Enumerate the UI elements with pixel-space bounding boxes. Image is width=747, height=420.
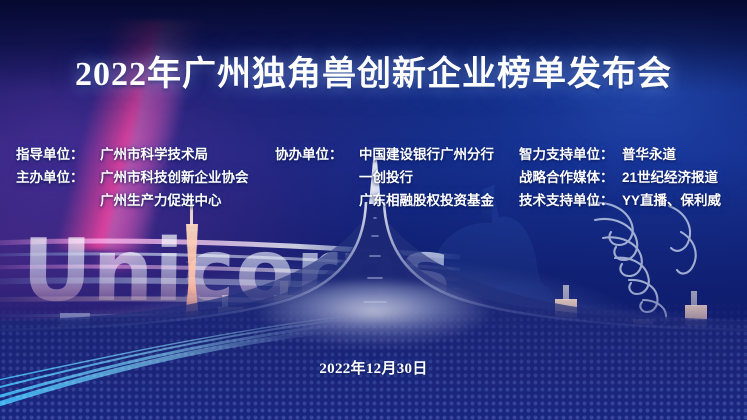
credit-label: 战略合作媒体： bbox=[519, 166, 622, 186]
credits-block: 指导单位： 广州市科学技术局 主办单位： 广州市科技创新企业协会 广州生产力促进… bbox=[0, 143, 747, 213]
credit-value: 广州市科学技术局 bbox=[100, 143, 208, 163]
credits-column-middle: 协办单位： 中国建设银行广州分行 一创投行 广东相融股权投资基金 bbox=[275, 143, 494, 212]
credit-label: 协办单位： bbox=[275, 143, 359, 163]
credit-value: 广州生产力促进中心 bbox=[100, 189, 222, 209]
credit-value: YY直播、保利威 bbox=[622, 189, 721, 209]
credit-row: 广州生产力促进中心 bbox=[16, 189, 249, 212]
event-poster: Unicorns bbox=[0, 0, 747, 420]
credit-value: 广州市科技创新企业协会 bbox=[100, 166, 249, 186]
credit-row: 指导单位： 广州市科学技术局 bbox=[16, 143, 249, 166]
credit-value: 中国建设银行广州分行 bbox=[359, 143, 494, 163]
credit-label: 智力支持单位： bbox=[519, 143, 622, 163]
credit-label: 指导单位： bbox=[16, 143, 100, 163]
cyan-light-streaks bbox=[0, 292, 420, 412]
credit-row: 技术支持单位： YY直播、保利威 bbox=[519, 189, 721, 212]
credit-label: 主办单位： bbox=[16, 166, 100, 186]
credit-value: 广东相融股权投资基金 bbox=[359, 189, 494, 209]
event-date: 2022年12月30日 bbox=[0, 357, 747, 378]
credit-value: 21世纪经济报道 bbox=[622, 166, 718, 186]
credit-value: 一创投行 bbox=[359, 166, 413, 186]
page-title: 2022年广州独角兽创新企业榜单发布会 bbox=[0, 46, 747, 95]
credit-row: 主办单位： 广州市科技创新企业协会 bbox=[16, 166, 249, 189]
credit-row: 智力支持单位： 普华永道 bbox=[519, 143, 721, 166]
credits-column-right: 智力支持单位： 普华永道 战略合作媒体： 21世纪经济报道 技术支持单位： YY… bbox=[519, 143, 721, 212]
credit-row: 战略合作媒体： 21世纪经济报道 bbox=[519, 166, 721, 189]
credits-column-left: 指导单位： 广州市科学技术局 主办单位： 广州市科技创新企业协会 广州生产力促进… bbox=[16, 143, 249, 212]
credit-label: 技术支持单位： bbox=[519, 189, 622, 209]
credit-value: 普华永道 bbox=[622, 143, 676, 163]
credit-row: 广东相融股权投资基金 bbox=[275, 189, 494, 212]
credit-row: 协办单位： 中国建设银行广州分行 bbox=[275, 143, 494, 166]
credit-row: 一创投行 bbox=[275, 166, 494, 189]
